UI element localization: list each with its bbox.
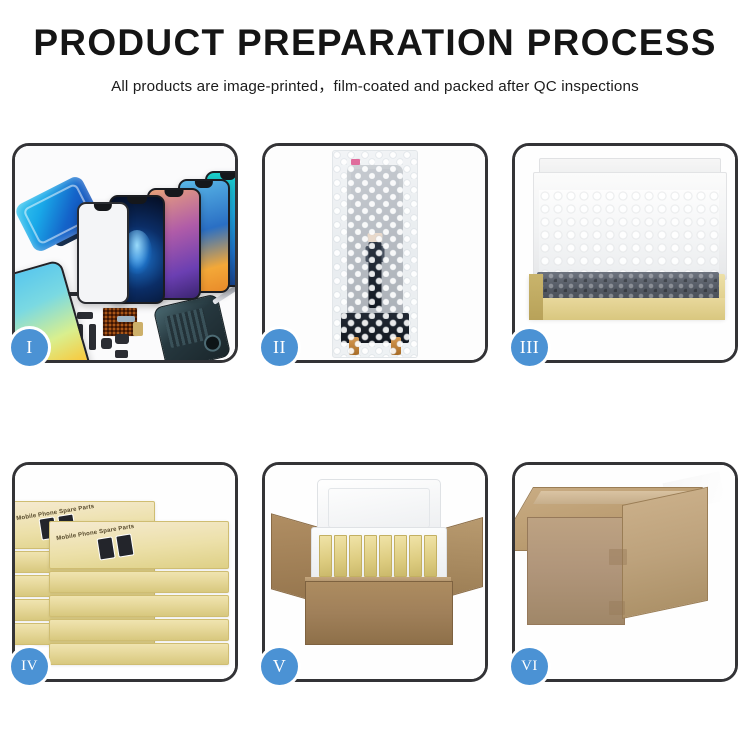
step-6-image (515, 465, 735, 679)
retail-box-stacked (49, 619, 229, 641)
process-step-4: Mobile Phone Spare Parts (12, 462, 238, 682)
yellow-retail-box (409, 535, 422, 577)
yellow-retail-box (424, 535, 437, 577)
white-foam-sheet (539, 190, 719, 274)
box-stack-right: Mobile Phone Spare Parts (49, 521, 229, 667)
carton-loading-scene (265, 465, 485, 679)
step-4-image: Mobile Phone Spare Parts (15, 465, 235, 679)
battery-connector-part (133, 322, 143, 336)
step-2-image (265, 146, 485, 360)
yellow-retail-box (364, 535, 377, 577)
carton-side-face (622, 487, 708, 619)
product-preparation-infographic: PRODUCT PREPARATION PROCESS All products… (0, 0, 750, 750)
kraft-box-front-wall (529, 298, 725, 320)
retail-box-top: Mobile Phone Spare Parts (49, 521, 229, 569)
step-3-image (515, 146, 735, 360)
box-art-screen-icon (115, 533, 134, 557)
sealed-carton-scene (515, 465, 735, 679)
notch-icon (127, 197, 147, 204)
process-step-grid: I (12, 143, 738, 682)
small-screw-plate-part (115, 350, 128, 358)
step-5-image (265, 465, 485, 679)
header: PRODUCT PREPARATION PROCESS All products… (0, 0, 750, 96)
yellow-boxes-row (319, 535, 437, 577)
qc-sticker-icon (351, 159, 360, 165)
page-title: PRODUCT PREPARATION PROCESS (0, 24, 750, 61)
page-subtitle: All products are image-printed，film-coat… (0, 74, 750, 96)
retail-box-stacked (49, 595, 229, 617)
step-badge-6: VI (511, 648, 548, 685)
yellow-retail-box (379, 535, 392, 577)
yellow-retail-box (394, 535, 407, 577)
step-badge-5: V (261, 648, 298, 685)
bubble-wrap-bag (332, 150, 418, 358)
yellow-retail-box (349, 535, 362, 577)
vibrator-part (115, 334, 129, 344)
retail-box-product-images (96, 533, 134, 560)
step-1-image (15, 146, 235, 360)
phone-screen-white (77, 202, 129, 304)
process-step-2: II (262, 143, 488, 363)
notch-icon (94, 204, 112, 211)
carton-hand-hole-top (609, 549, 627, 565)
retail-box-stack-scene: Mobile Phone Spare Parts (15, 465, 235, 679)
notch-icon (195, 181, 213, 188)
inner-box-scene (515, 146, 735, 360)
retail-box-stacked (49, 643, 229, 665)
antenna-flex-part (117, 316, 135, 322)
notch-icon (165, 190, 184, 197)
yellow-retail-box (319, 535, 332, 577)
step-badge-4: IV (11, 648, 48, 685)
carton-hand-hole-bottom (609, 601, 625, 615)
bubble-wrap-scene (265, 146, 485, 360)
phone-parts-scene (15, 146, 235, 360)
carton-front-wall (305, 581, 453, 645)
bubble-texture (333, 151, 417, 357)
process-step-5: V (262, 462, 488, 682)
retail-box-stacked (49, 571, 229, 593)
step-badge-2: II (261, 329, 298, 366)
yellow-retail-box (334, 535, 347, 577)
process-step-3: III (512, 143, 738, 363)
home-flex-part (89, 324, 96, 350)
process-step-1: I (12, 143, 238, 363)
phone-backplate-motherboard (153, 293, 232, 360)
box-art-screen-icon (96, 536, 115, 560)
camera-module-part (101, 338, 112, 349)
process-step-6: VI (512, 462, 738, 682)
connector-part (77, 312, 93, 319)
kraft-box-side-wall (529, 274, 543, 320)
step-badge-3: III (511, 329, 548, 366)
step-badge-1: I (11, 329, 48, 366)
